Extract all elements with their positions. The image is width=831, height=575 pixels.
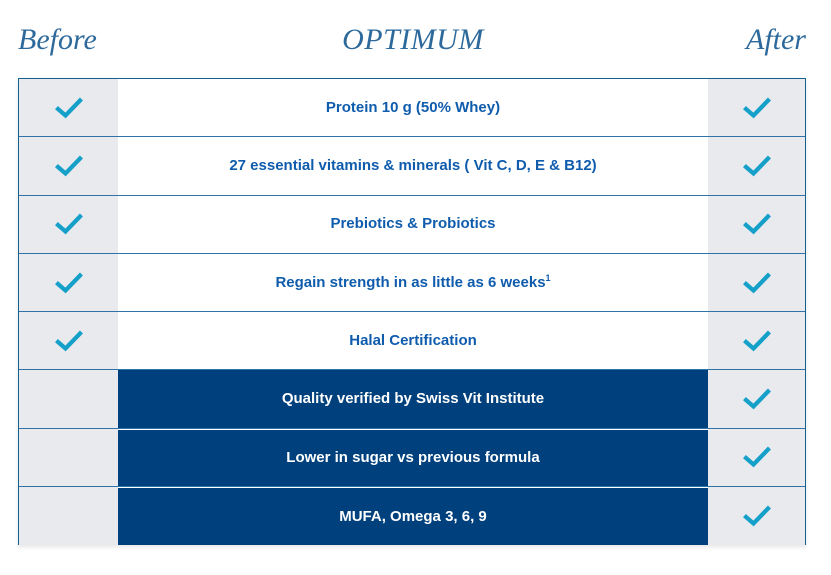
cell-feature-label: Prebiotics & Probiotics <box>118 196 708 253</box>
table-row: MUFA, Omega 3, 6, 9 <box>19 487 805 545</box>
column-header-before: Before <box>18 20 97 60</box>
cell-before <box>19 79 118 136</box>
check-icon <box>742 154 772 178</box>
cell-before <box>19 137 118 194</box>
table-header-band: Before OPTIMUM After <box>0 20 831 68</box>
cell-after <box>708 370 805 427</box>
cell-before <box>19 487 118 545</box>
cell-feature-label: MUFA, Omega 3, 6, 9 <box>118 487 708 545</box>
cell-feature-label: 27 essential vitamins & minerals ( Vit C… <box>118 137 708 194</box>
cell-feature-label: Halal Certification <box>118 312 708 369</box>
check-icon <box>54 271 84 295</box>
table-row: Lower in sugar vs previous formula <box>19 429 805 487</box>
table-row: Prebiotics & Probiotics <box>19 196 805 254</box>
comparison-table: Protein 10 g (50% Whey)27 essential vita… <box>18 78 806 545</box>
cell-before <box>19 429 118 486</box>
footnote-marker: 1 <box>546 273 551 283</box>
feature-label-text: Prebiotics & Probiotics <box>330 215 495 233</box>
cell-before <box>19 312 118 369</box>
column-header-optimum: OPTIMUM <box>118 20 708 60</box>
check-icon <box>54 212 84 236</box>
feature-label-text: 27 essential vitamins & minerals ( Vit C… <box>229 157 596 175</box>
cell-after <box>708 137 805 194</box>
check-icon <box>54 96 84 120</box>
check-icon <box>54 329 84 353</box>
cell-after <box>708 312 805 369</box>
cell-feature-label: Protein 10 g (50% Whey) <box>118 79 708 136</box>
cell-after <box>708 254 805 311</box>
cell-after <box>708 79 805 136</box>
table-row: Quality verified by Swiss Vit Institute <box>19 370 805 428</box>
feature-label-text: Quality verified by Swiss Vit Institute <box>282 390 544 408</box>
column-header-after: After <box>640 20 806 60</box>
feature-label-text: Halal Certification <box>349 332 477 350</box>
cell-feature-label: Regain strength in as little as 6 weeks1 <box>118 254 708 311</box>
empty-cell-placeholder <box>54 504 84 528</box>
table-row: 27 essential vitamins & minerals ( Vit C… <box>19 137 805 195</box>
feature-label-text: MUFA, Omega 3, 6, 9 <box>339 508 487 526</box>
check-icon <box>742 212 772 236</box>
cell-after <box>708 487 805 545</box>
cell-feature-label: Lower in sugar vs previous formula <box>118 429 708 486</box>
cell-before <box>19 254 118 311</box>
cell-before <box>19 370 118 427</box>
check-icon <box>742 445 772 469</box>
feature-label-text: Protein 10 g (50% Whey) <box>326 99 500 117</box>
check-icon <box>742 96 772 120</box>
cell-after <box>708 429 805 486</box>
empty-cell-placeholder <box>54 445 84 469</box>
check-icon <box>54 154 84 178</box>
feature-label-text: Regain strength in as little as 6 weeks1 <box>275 274 550 292</box>
cell-feature-label: Quality verified by Swiss Vit Institute <box>118 370 708 427</box>
check-icon <box>742 329 772 353</box>
comparison-table-page: Before OPTIMUM After Protein 10 g (50% W… <box>0 0 831 575</box>
cell-after <box>708 196 805 253</box>
table-row: Halal Certification <box>19 312 805 370</box>
table-row: Protein 10 g (50% Whey) <box>19 79 805 137</box>
feature-label-text: Lower in sugar vs previous formula <box>286 449 539 467</box>
check-icon <box>742 387 772 411</box>
empty-cell-placeholder <box>54 387 84 411</box>
check-icon <box>742 504 772 528</box>
table-row: Regain strength in as little as 6 weeks1 <box>19 254 805 312</box>
check-icon <box>742 271 772 295</box>
cell-before <box>19 196 118 253</box>
